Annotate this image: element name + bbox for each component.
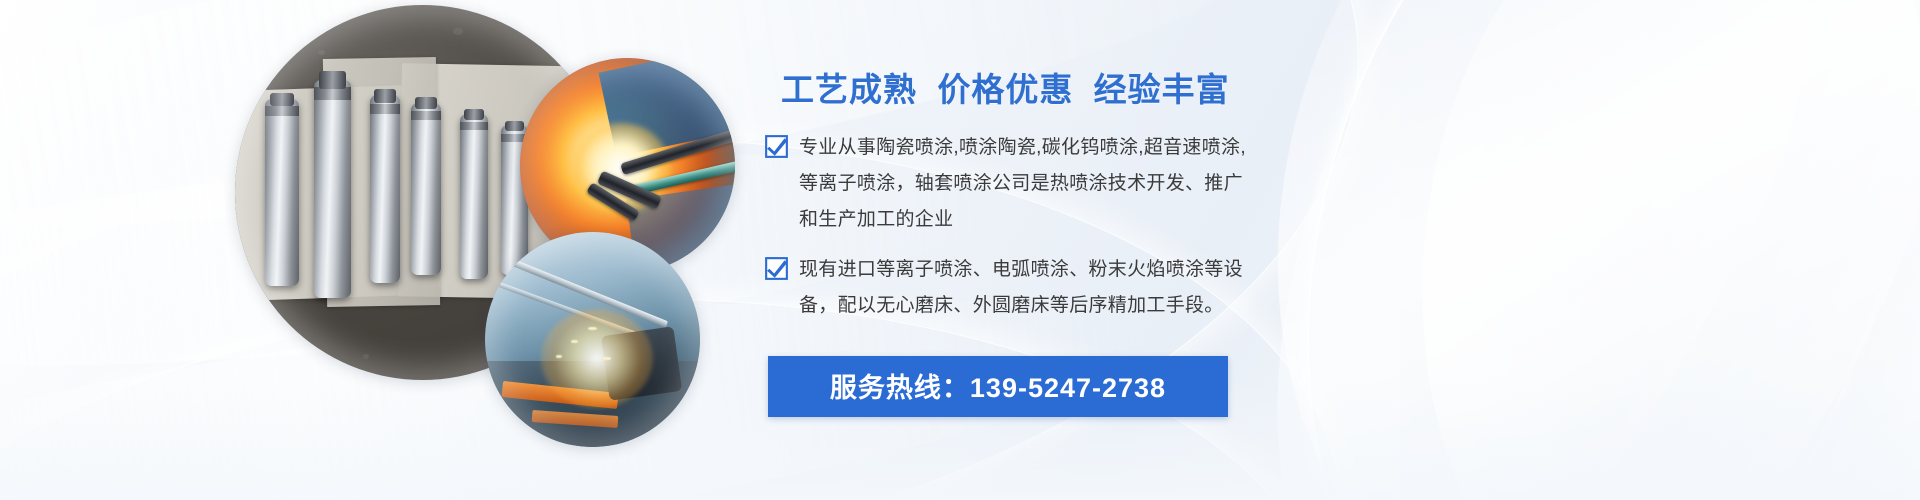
feature-text: 现有进口等离子喷涂、电弧喷涂、粉末火焰喷涂等设 备，配以无心磨床、外圆磨床等后序…	[799, 252, 1243, 324]
feature-text: 专业从事陶瓷喷涂,喷涂陶瓷,碳化钨喷涂,超音速喷涂, 等离子喷涂，轴套喷涂公司是…	[799, 130, 1246, 238]
headline: 工艺成熟 价格优惠 经验丰富	[781, 72, 1765, 108]
check-icon	[765, 135, 788, 158]
feature-item: 现有进口等离子喷涂、电弧喷涂、粉末火焰喷涂等设 备，配以无心磨床、外圆磨床等后序…	[765, 252, 1765, 324]
banner-content: 工艺成熟 价格优惠 经验丰富 专业从事陶瓷喷涂,喷涂陶瓷,碳化钨喷涂,超音速喷涂…	[765, 72, 1765, 417]
feature-list: 专业从事陶瓷喷涂,喷涂陶瓷,碳化钨喷涂,超音速喷涂, 等离子喷涂，轴套喷涂公司是…	[765, 130, 1765, 324]
photo-cluster	[0, 0, 760, 500]
check-icon	[765, 257, 788, 280]
grinding-welding-photo	[485, 232, 700, 447]
feature-item: 专业从事陶瓷喷涂,喷涂陶瓷,碳化钨喷涂,超音速喷涂, 等离子喷涂，轴套喷涂公司是…	[765, 130, 1765, 238]
promo-banner: 工艺成熟 价格优惠 经验丰富 专业从事陶瓷喷涂,喷涂陶瓷,碳化钨喷涂,超音速喷涂…	[0, 0, 1920, 500]
hotline-banner[interactable]: 服务热线：139-5247-2738	[768, 356, 1228, 417]
